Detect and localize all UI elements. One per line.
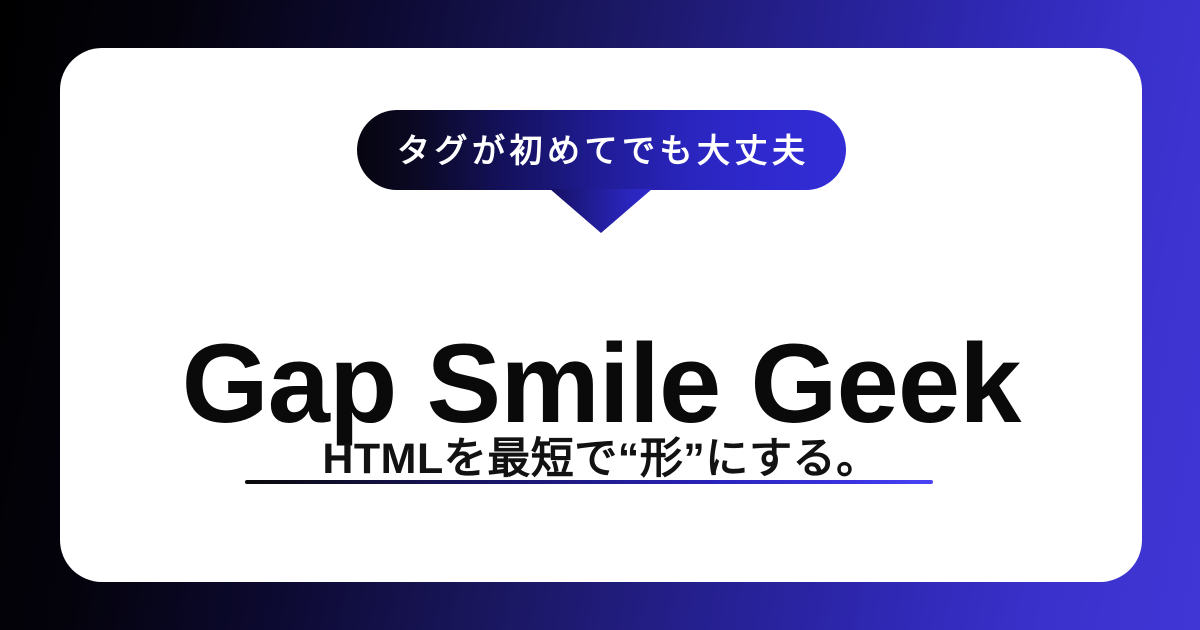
page-subtitle: HTMLを最短で“形”にする。 (60, 434, 1142, 486)
badge-group: タグが初めてでも大丈夫 (60, 110, 1142, 233)
page-title: Gap Smile Geek (60, 321, 1142, 446)
accent-underline-divider (245, 480, 933, 484)
triangle-down-icon (550, 189, 652, 233)
eyebrow-badge-label: タグが初めてでも大丈夫 (393, 134, 810, 167)
hero-card-content: タグが初めてでも大丈夫 Gap Smile Geek HTMLを最短で“形”にす… (60, 48, 1142, 582)
og-image-canvas: タグが初めてでも大丈夫 Gap Smile Geek HTMLを最短で“形”にす… (0, 0, 1200, 630)
eyebrow-badge: タグが初めてでも大丈夫 (357, 110, 846, 190)
hero-card: タグが初めてでも大丈夫 Gap Smile Geek HTMLを最短で“形”にす… (60, 48, 1142, 582)
